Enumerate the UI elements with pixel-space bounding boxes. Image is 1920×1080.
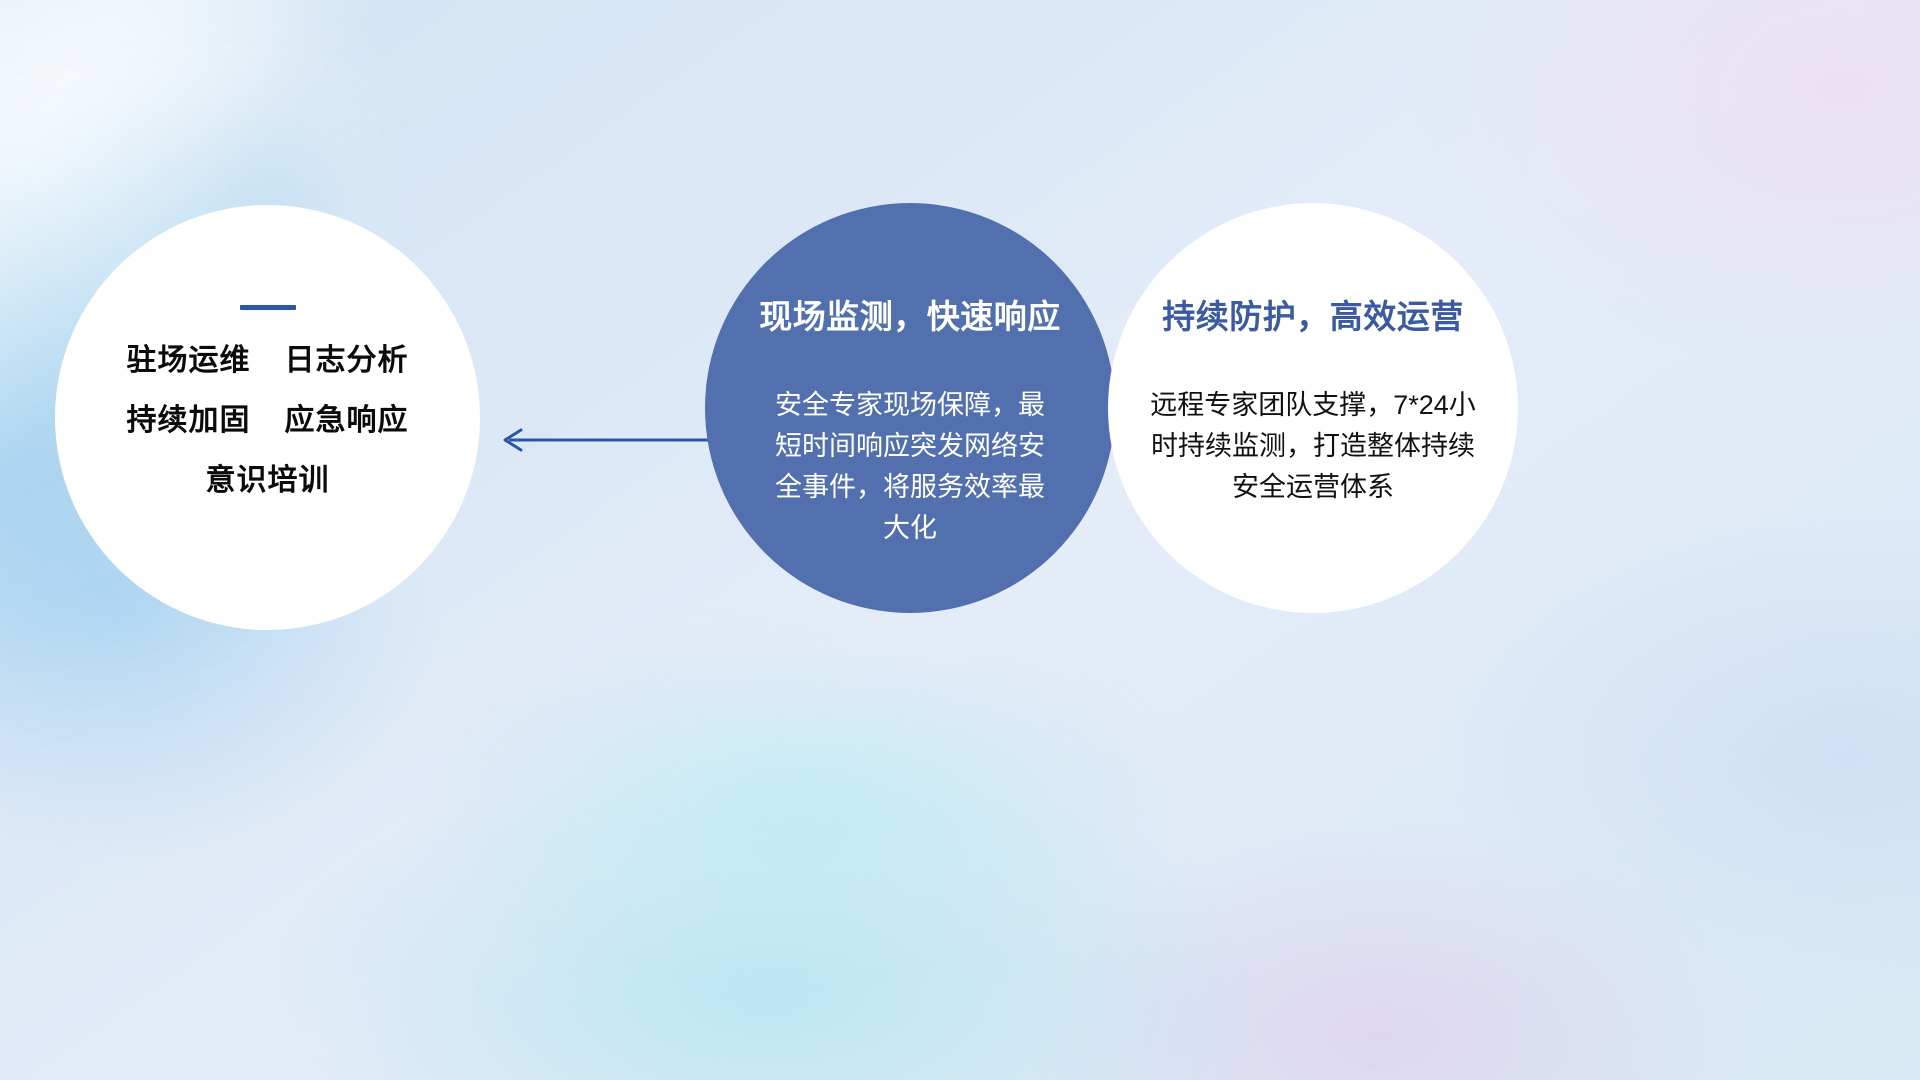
onsite-monitoring-body: 安全专家现场保障，最短时间响应突发网络安全事件，将服务效率最大化 (765, 385, 1055, 549)
capability-item: 持续加固 (127, 406, 251, 436)
onsite-monitoring-title: 现场监测，快速响应 (759, 300, 1061, 333)
continuous-protection-circle: 持续防护，高效运营 远程专家团队支撑，7*24小时持续监测，打造整体持续安全运营… (1108, 203, 1518, 613)
continuous-protection-body: 远程专家团队支撑，7*24小时持续监测，打造整体持续安全运营体系 (1148, 385, 1478, 508)
divider-dash (240, 305, 296, 310)
capability-item: 意识培训 (206, 466, 330, 496)
capability-item: 日志分析 (285, 346, 409, 376)
continuous-protection-title: 持续防护，高效运营 (1162, 300, 1464, 333)
capability-row: 意识培训 (206, 466, 330, 496)
capability-row: 持续加固 应急响应 (127, 406, 409, 436)
slide-canvas: 驻场运维 日志分析 持续加固 应急响应 意识培训 现场监测，快速响应 安全专家现… (0, 0, 1920, 1080)
left-capability-circle: 驻场运维 日志分析 持续加固 应急响应 意识培训 (55, 205, 480, 630)
onsite-monitoring-circle: 现场监测，快速响应 安全专家现场保障，最短时间响应突发网络安全事件，将服务效率最… (705, 203, 1115, 613)
capability-item: 应急响应 (285, 406, 409, 436)
background-bottom-glow (420, 640, 1180, 970)
capability-item: 驻场运维 (127, 346, 251, 376)
capability-row: 驻场运维 日志分析 (127, 346, 409, 376)
left-arrow-icon (495, 425, 710, 455)
